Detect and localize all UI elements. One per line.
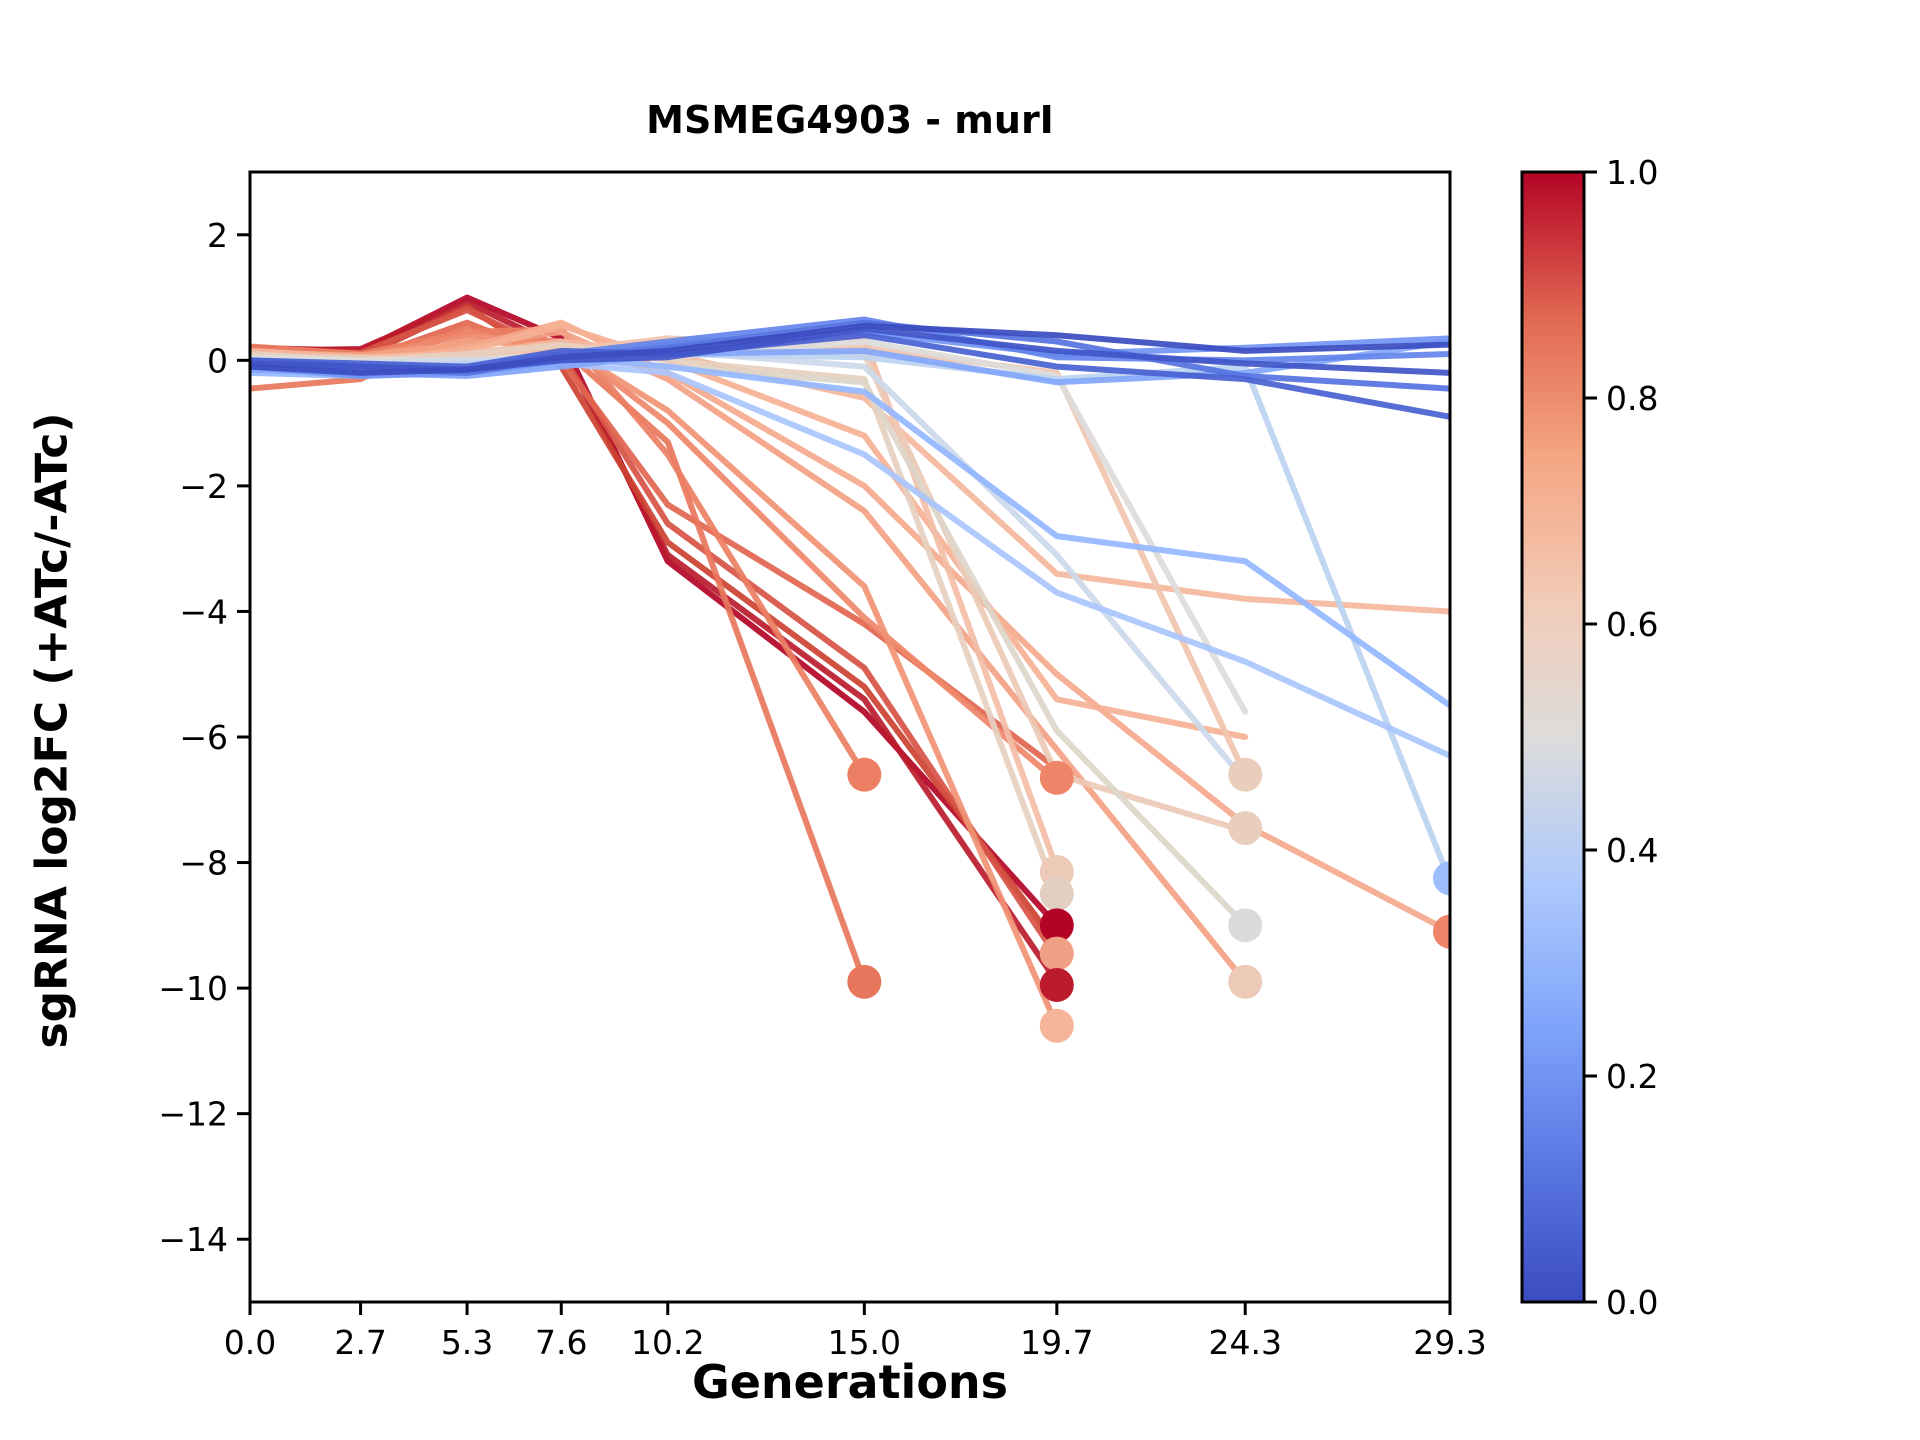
endpoint-marker: [1228, 965, 1262, 999]
endpoint-marker: [1040, 937, 1074, 971]
endpoint-marker: [1228, 758, 1262, 792]
endpoint-marker: [1228, 908, 1262, 942]
colorbar-tick-label: 0.6: [1606, 605, 1658, 644]
y-tick-label: −10: [158, 969, 228, 1008]
endpoint-marker: [847, 758, 881, 792]
y-tick-label: −2: [179, 467, 228, 506]
y-tick-label: −6: [179, 718, 228, 757]
x-axis-label: Generations: [250, 1355, 1450, 1409]
endpoint-marker: [1040, 1009, 1074, 1043]
endpoint-marker: [1228, 811, 1262, 845]
colorbar-tick-label: 0.8: [1606, 379, 1658, 418]
y-tick-label: −14: [158, 1220, 228, 1259]
colorbar-gradient: [1522, 172, 1584, 1302]
y-tick-label: 0: [207, 341, 228, 380]
endpoint-marker: [847, 965, 881, 999]
y-axis: 20−2−4−6−8−10−12−14: [158, 216, 250, 1259]
endpoint-marker: [1040, 968, 1074, 1002]
endpoint-marker: [1040, 877, 1074, 911]
colorbar-tick-label: 0.4: [1606, 831, 1658, 870]
y-tick-label: 2: [207, 216, 228, 255]
colorbar-tick-label: 0.2: [1606, 1057, 1658, 1096]
figure-root: MSMEG4903 - murI 20−: [0, 0, 1920, 1440]
y-tick-label: −12: [158, 1095, 228, 1134]
y-tick-label: −8: [179, 844, 228, 883]
colorbar-tick-label: 1.0: [1606, 153, 1658, 192]
y-tick-label: −4: [179, 592, 228, 631]
x-axis: 0.02.75.37.610.215.019.724.329.3: [224, 1302, 1487, 1362]
colorbar: 0.00.20.40.60.81.0: [1522, 153, 1658, 1322]
colorbar-tick-label: 0.0: [1606, 1283, 1658, 1322]
endpoint-marker: [1040, 761, 1074, 795]
colorbar-ticks: 0.00.20.40.60.81.0: [1584, 153, 1658, 1322]
y-axis-label: sgRNA log2FC (+ATc/-ATc): [27, 281, 78, 1181]
plot-canvas: 20−2−4−6−8−10−12−14 0.02.75.37.610.215.0…: [0, 0, 1920, 1440]
